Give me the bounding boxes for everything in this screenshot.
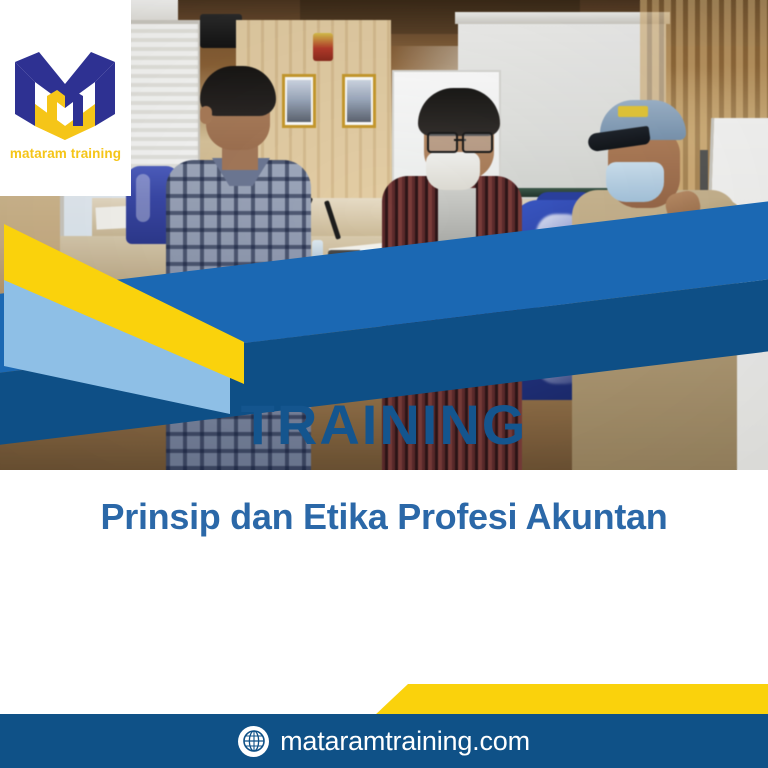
mataram-m-logo-icon	[13, 48, 117, 140]
page-title: TRAINING	[0, 392, 768, 457]
footer-bar: mataramtraining.com	[0, 714, 768, 768]
logo-panel: mataram training	[0, 0, 131, 196]
footer-yellow-accent	[360, 684, 768, 716]
page-subtitle: Prinsip dan Etika Profesi Akuntan	[0, 496, 768, 538]
logo-wordmark: mataram training	[0, 146, 131, 161]
poster-canvas: mataram training TRAINING Prinsip dan Et…	[0, 0, 768, 768]
website-url[interactable]: mataramtraining.com	[280, 726, 530, 757]
globe-icon	[238, 726, 269, 757]
